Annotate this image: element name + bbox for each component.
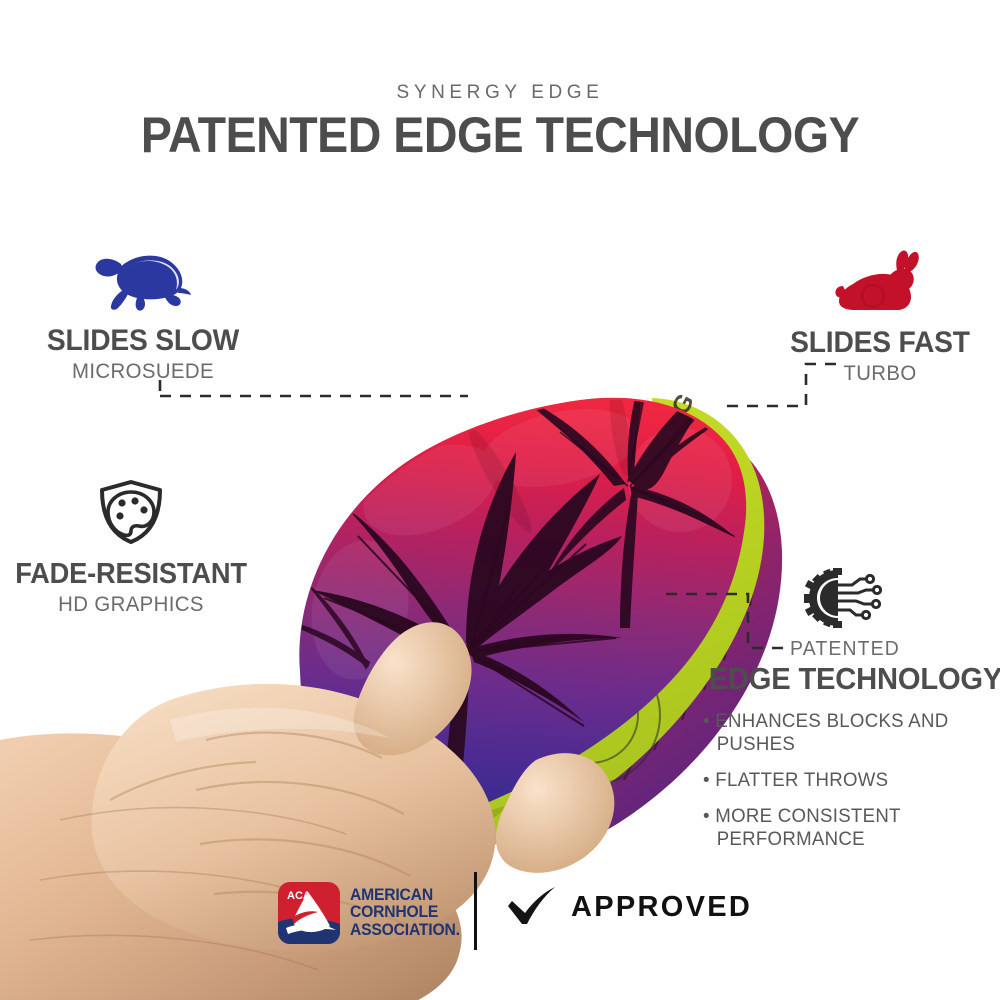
callout-title: SLIDES FAST <box>767 326 993 360</box>
list-item: • ENHANCES BLOCKS AND PUSHES <box>703 710 968 756</box>
benefits-list: • ENHANCES BLOCKS AND PUSHES • FLATTER T… <box>703 710 973 864</box>
eyebrow-text: SYNERGY EDGE <box>0 82 1000 104</box>
callout-fade-resistant: FADE-RESISTANT HD GRAPHICS <box>0 478 262 617</box>
list-item: • FLATTER THROWS <box>703 769 968 792</box>
infographic-canvas: SYNERGY EDGE PATENTED EDGE TECHNOLOGY <box>0 0 1000 1000</box>
callout-patented-edge-technology: PATENTED EDGE TECHNOLOGY <box>700 568 990 697</box>
callout-title: EDGE TECHNOLOGY <box>709 661 982 697</box>
shield-palette-icon <box>0 478 262 546</box>
footer-divider <box>474 872 477 950</box>
list-item: • MORE CONSISTENT PERFORMANCE <box>703 805 968 851</box>
aca-logo-group: ACA AMERICAN CORNHOLE ASSOCIATION. <box>278 882 466 944</box>
page-title: PATENTED EDGE TECHNOLOGY <box>35 104 965 166</box>
callout-subtitle: MICROSUEDE <box>12 360 274 384</box>
aca-logo-icon: ACA <box>278 882 340 944</box>
aca-wordmark: AMERICAN CORNHOLE ASSOCIATION. <box>350 887 460 940</box>
callout-subtitle: TURBO <box>764 362 997 386</box>
approved-group: APPROVED <box>506 886 752 928</box>
callout-subtitle: PATENTED <box>704 638 985 661</box>
aca-badge-text: ACA <box>287 890 311 902</box>
rabbit-icon <box>760 250 1000 314</box>
aca-wordmark-line2: CORNHOLE <box>350 904 460 922</box>
check-icon <box>506 886 558 928</box>
callout-slides-slow: SLIDES SLOW MICROSUEDE <box>8 250 278 384</box>
aca-wordmark-line1: AMERICAN <box>350 887 460 905</box>
turtle-icon <box>8 250 278 312</box>
callout-title: FADE-RESISTANT <box>8 558 254 591</box>
callout-title: SLIDES SLOW <box>16 324 270 358</box>
aca-wordmark-line3: ASSOCIATION. <box>350 922 460 940</box>
approved-label: APPROVED <box>571 891 752 924</box>
footer-bar: ACA AMERICAN CORNHOLE ASSOCIATION. APPRO… <box>278 878 728 958</box>
callout-subtitle: HD GRAPHICS <box>4 593 258 617</box>
gear-circuit-icon <box>700 568 990 628</box>
callout-slides-fast: SLIDES FAST TURBO <box>760 250 1000 386</box>
